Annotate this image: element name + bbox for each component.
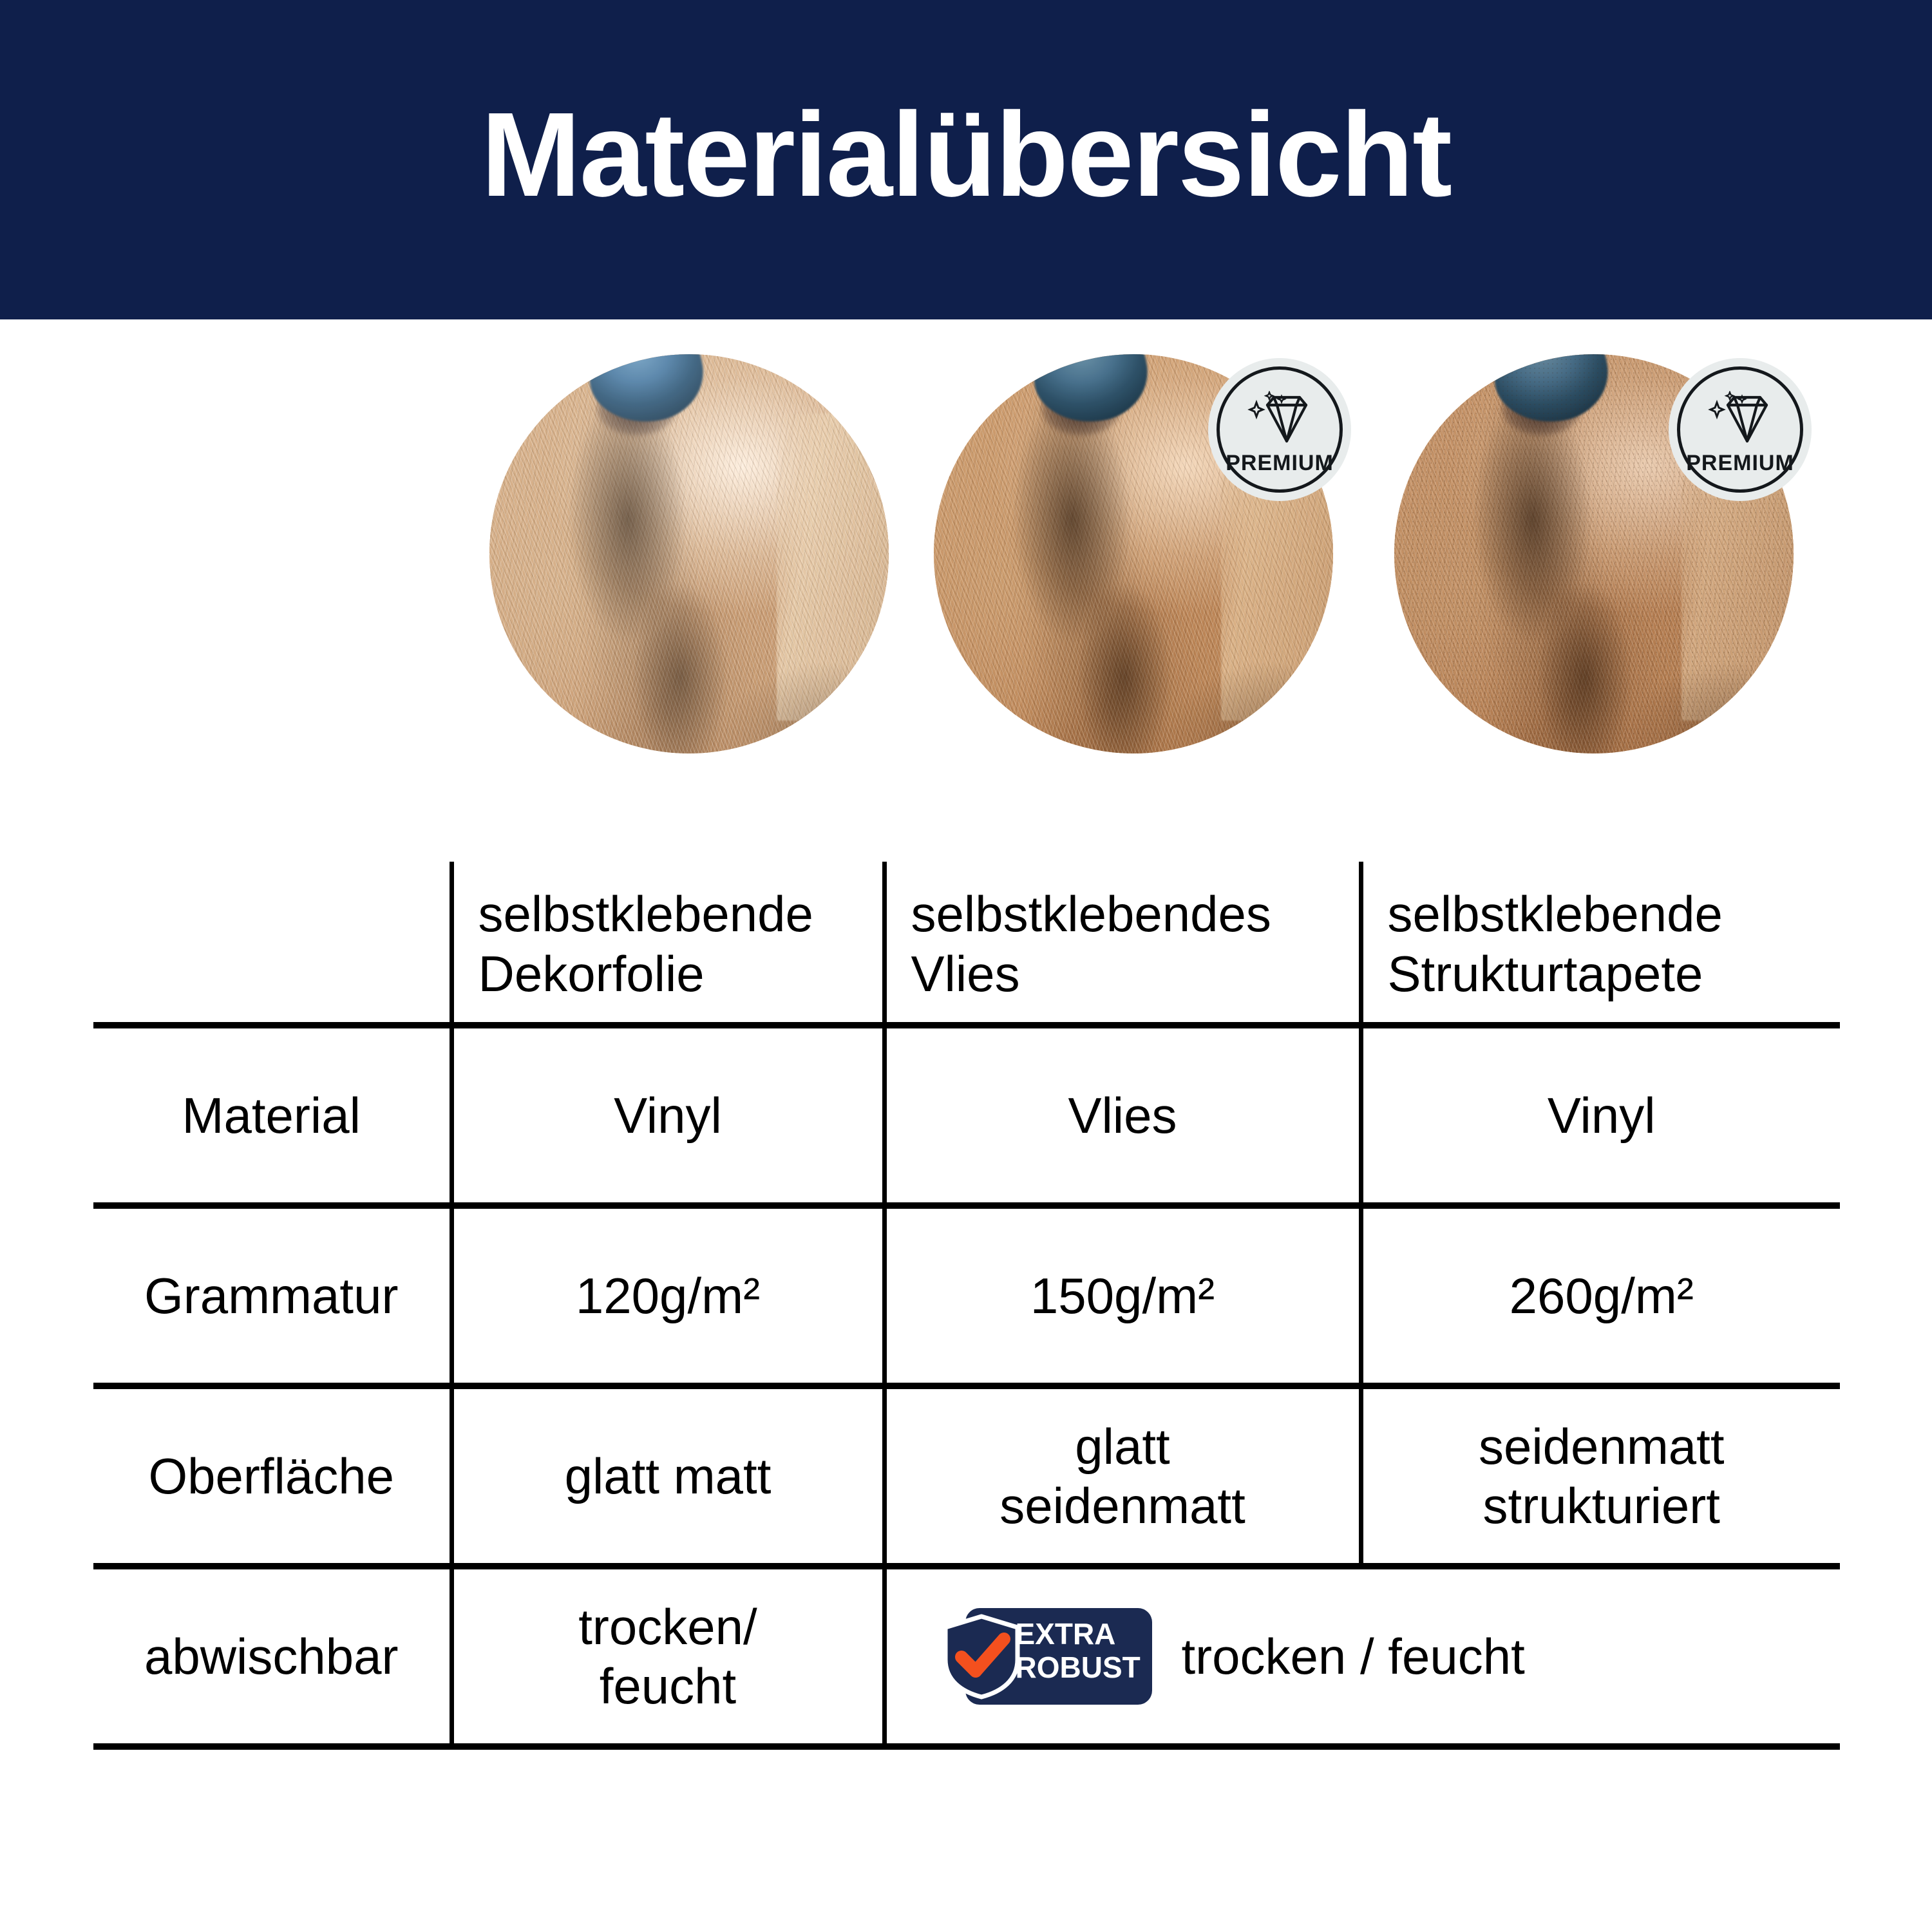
extra-robust-label: EXTRA ROBUST — [1016, 1617, 1151, 1685]
diamond-icon — [1247, 391, 1312, 450]
table-bottom-border-cell-0 — [93, 1747, 451, 1750]
cell-abwischbar-merged: EXTRA ROBUST trocken / feucht — [884, 1566, 1840, 1747]
table-row-grammatur: Grammatur 120g/m² 150g/m² 260g/m² — [93, 1206, 1840, 1386]
extra-robust-line-1: EXTRA — [1016, 1617, 1151, 1651]
table-bottom-border-cell-3 — [1361, 1747, 1840, 1750]
extra-robust-badge: EXTRA ROBUST — [940, 1608, 1152, 1705]
cell-abwischbar-dekorfolie: trocken/ feucht — [451, 1566, 884, 1747]
cell-material-vlies: Vlies — [884, 1025, 1361, 1206]
cell-line-1: glatt — [904, 1417, 1342, 1476]
swatch-tint-dekorfolie — [489, 354, 889, 753]
material-spec-table: selbstklebende Dekorfolie selbstklebende… — [93, 862, 1840, 1750]
cell-grammatur-vlies: 150g/m² — [884, 1206, 1361, 1386]
table-bottom-border — [93, 1747, 1840, 1750]
shield-check-icon — [940, 1613, 1023, 1700]
table-row-abwischbar: abwischbar trocken/ feucht — [93, 1566, 1840, 1747]
cell-oberflaeche-strukturtapete: seidenmatt strukturiert — [1361, 1386, 1840, 1566]
cell-abwischbar-merged-text: trocken / feucht — [1182, 1627, 1525, 1686]
row-label-oberflaeche: Oberfläche — [93, 1386, 451, 1566]
row-label-grammatur: Grammatur — [93, 1206, 451, 1386]
cell-line-1: trocken/ — [471, 1597, 866, 1656]
premium-badge: PREMIUM — [1669, 358, 1812, 501]
swatch-image-dekorfolie — [489, 354, 889, 753]
table-header-row: selbstklebende Dekorfolie selbstklebende… — [93, 862, 1840, 1025]
premium-badge-label: PREMIUM — [1686, 452, 1794, 474]
cell-oberflaeche-dekorfolie: glatt matt — [451, 1386, 884, 1566]
column-header-dekorfolie: selbstklebende Dekorfolie — [451, 862, 884, 1025]
header-banner: Materialübersicht — [0, 0, 1932, 319]
table-row-oberflaeche: Oberfläche glatt matt glatt seidenmatt s… — [93, 1386, 1840, 1566]
cell-grammatur-dekorfolie: 120g/m² — [451, 1206, 884, 1386]
swatch-dekorfolie — [489, 354, 889, 753]
cell-line-2: strukturiert — [1380, 1476, 1824, 1535]
cell-material-dekorfolie: Vinyl — [451, 1025, 884, 1206]
table-bottom-border-cell-1 — [451, 1747, 884, 1750]
swatch-strukturtapete: PREMIUM — [1394, 354, 1794, 753]
column-header-vlies: selbstklebendes Vlies — [884, 862, 1361, 1025]
table-corner-cell — [93, 862, 451, 1025]
row-label-material: Material — [93, 1025, 451, 1206]
premium-badge-label: PREMIUM — [1226, 452, 1334, 474]
cell-grammatur-strukturtapete: 260g/m² — [1361, 1206, 1840, 1386]
material-overview-page: Materialübersicht — [0, 0, 1932, 1932]
diamond-icon — [1708, 391, 1772, 450]
table-bottom-border-cell-2 — [884, 1747, 1361, 1750]
column-header-strukturtapete: selbstklebende Strukturtapete — [1361, 862, 1840, 1025]
premium-badge: PREMIUM — [1208, 358, 1351, 501]
page-title: Materialübersicht — [0, 0, 1932, 319]
cell-line-2: feucht — [471, 1656, 866, 1716]
cell-line-1: seidenmatt — [1380, 1417, 1824, 1476]
swatch-vlies: PREMIUM — [934, 354, 1333, 753]
cell-line-2: seidenmatt — [904, 1476, 1342, 1535]
cell-material-strukturtapete: Vinyl — [1361, 1025, 1840, 1206]
extra-robust-line-2: ROBUST — [1016, 1651, 1151, 1684]
row-label-abwischbar: abwischbar — [93, 1566, 451, 1747]
cell-oberflaeche-vlies: glatt seidenmatt — [884, 1386, 1361, 1566]
table-row-material: Material Vinyl Vlies Vinyl — [93, 1025, 1840, 1206]
